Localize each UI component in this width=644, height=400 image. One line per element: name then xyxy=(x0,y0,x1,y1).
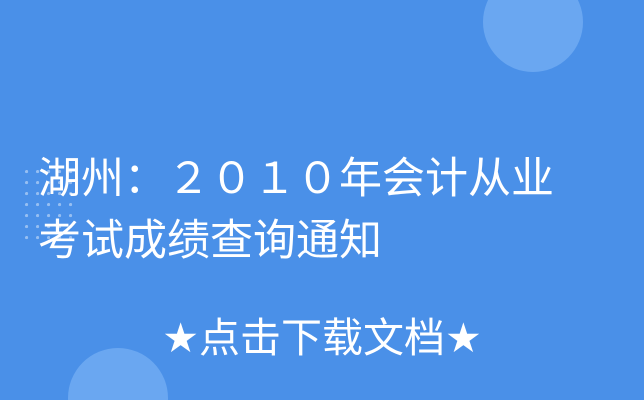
document-cover-slide: 湖州：２０１０年会计从业 考试成绩查询通知 ★点击下载文档★ xyxy=(0,0,644,400)
page-title-line-1: 湖州：２０１０年会计从业 xyxy=(38,148,628,210)
download-document-label[interactable]: ★点击下载文档★ xyxy=(162,312,482,364)
download-document-link[interactable]: ★点击下载文档★ xyxy=(0,312,644,364)
page-title: 湖州：２０１０年会计从业 考试成绩查询通知 xyxy=(38,148,628,272)
page-title-line-2: 考试成绩查询通知 xyxy=(38,210,628,272)
decorative-circle-top-right xyxy=(483,0,583,72)
